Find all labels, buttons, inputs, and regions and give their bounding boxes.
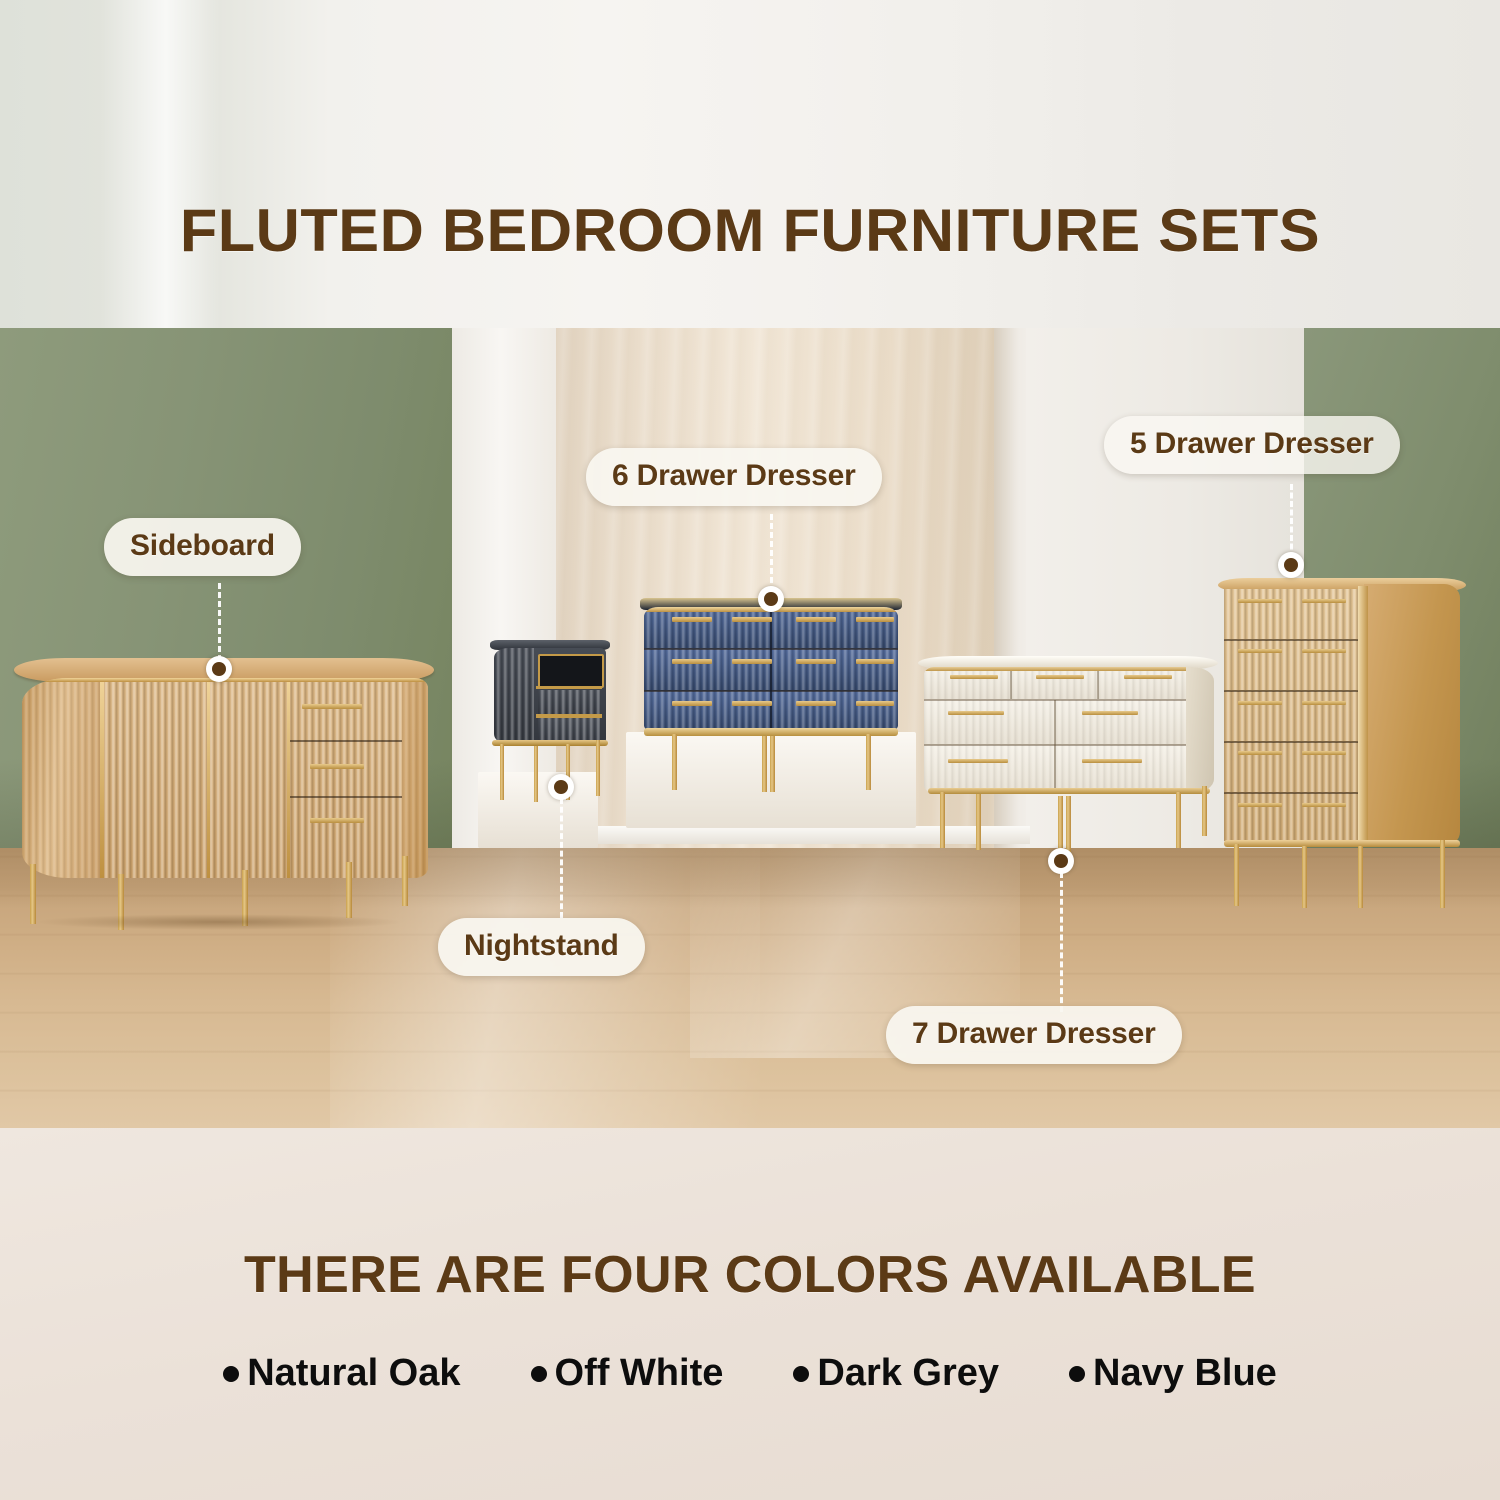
- bullet-icon: [793, 1366, 809, 1382]
- nightstand-drawer-2: [538, 718, 600, 742]
- dresser6-drawer-4: [771, 649, 898, 690]
- bullet-icon: [1069, 1366, 1085, 1382]
- color-option-natural-oak[interactable]: Natural Oak: [223, 1352, 460, 1395]
- callout-leader-6-drawer: [770, 514, 773, 592]
- nightstand-drawer-1: [538, 690, 600, 714]
- dresser7-drawer-6: [924, 745, 1054, 793]
- page-title: FLUTED BEDROOM FURNITURE SETS: [0, 196, 1500, 265]
- callout-dot-6-drawer: [758, 586, 784, 612]
- product-5-drawer-dresser: [1218, 578, 1466, 918]
- dresser6-drawer-1: [644, 607, 771, 648]
- callout-leader-5-drawer: [1290, 484, 1293, 558]
- dresser7-body: [924, 667, 1214, 793]
- header-band: [0, 0, 1500, 328]
- callout-dot-7-drawer: [1048, 848, 1074, 874]
- dresser7-drawer-4: [924, 700, 1054, 744]
- nightstand-body: [494, 648, 606, 744]
- dresser6-drawer-3: [644, 649, 771, 690]
- dresser7-base-rail: [928, 788, 1210, 794]
- dresser5-drawer-5: [1224, 793, 1364, 841]
- callout-label-5-drawer[interactable]: 5 Drawer Dresser: [1104, 416, 1400, 474]
- dresser6-body: [644, 607, 898, 731]
- dresser5-drawer-1: [1224, 589, 1364, 639]
- callout-label-nightstand[interactable]: Nightstand: [438, 918, 645, 976]
- callout-leader-sideboard: [218, 583, 221, 661]
- color-option-label: Dark Grey: [817, 1352, 999, 1395]
- callout-dot-5-drawer: [1278, 552, 1304, 578]
- sideboard-divider-2: [207, 678, 210, 878]
- dresser5-drawer-4: [1224, 742, 1364, 792]
- color-option-label: Navy Blue: [1093, 1352, 1277, 1395]
- bullet-icon: [531, 1366, 547, 1382]
- dresser7-drawer-1: [924, 667, 1010, 699]
- product-scene-photo: Sideboard 6 Drawer Dresser 5 Drawer Dres…: [0, 328, 1500, 1128]
- color-option-off-white[interactable]: Off White: [531, 1352, 724, 1395]
- dresser7-side-panel: [1186, 667, 1214, 793]
- colors-option-list: Natural Oak Off White Dark Grey Navy Blu…: [0, 1352, 1500, 1395]
- sideboard-handle-2: [310, 764, 364, 769]
- sideboard-shadow: [34, 914, 404, 930]
- callout-dot-sideboard: [206, 656, 232, 682]
- callout-label-sideboard[interactable]: Sideboard: [104, 518, 301, 576]
- nightstand-open-shelf: [538, 654, 604, 688]
- dresser7-drawer-3: [1098, 667, 1186, 699]
- color-option-navy-blue[interactable]: Navy Blue: [1069, 1352, 1277, 1395]
- infographic-page: FLUTED BEDROOM FURNITURE SETS: [0, 0, 1500, 1500]
- dresser7-drawer-7: [1055, 745, 1186, 793]
- dresser6-drawer-2: [771, 607, 898, 648]
- dresser7-drawer-2: [1011, 667, 1097, 699]
- color-option-dark-grey[interactable]: Dark Grey: [793, 1352, 999, 1395]
- nightstand-side-flutes: [494, 648, 534, 744]
- sideboard-right-cap: [402, 678, 428, 878]
- dresser5-front: [1224, 589, 1364, 841]
- color-option-label: Natural Oak: [247, 1352, 460, 1395]
- colors-section-title: THERE ARE FOUR COLORS AVAILABLE: [0, 1245, 1500, 1305]
- nightstand-base-rail: [492, 740, 608, 746]
- sideboard-divider-1: [100, 678, 104, 878]
- colors-section: [0, 1128, 1500, 1500]
- sideboard-left-door: [22, 678, 100, 878]
- bullet-icon: [223, 1366, 239, 1382]
- product-sideboard: [8, 658, 438, 908]
- dresser7-drawer-5: [1055, 700, 1186, 744]
- sideboard-divider-3: [287, 678, 290, 878]
- callout-label-6-drawer[interactable]: 6 Drawer Dresser: [586, 448, 882, 506]
- product-nightstand: [490, 640, 610, 800]
- callout-dot-nightstand: [548, 774, 574, 800]
- dresser6-base-rail: [644, 728, 898, 736]
- dresser5-drawer-2: [1224, 640, 1364, 690]
- sideboard-handle-3: [310, 818, 364, 823]
- dresser6-drawer-5: [644, 691, 771, 731]
- sideboard-drawer-gap-2: [290, 796, 402, 798]
- product-7-drawer-dresser: [918, 656, 1218, 856]
- callout-leader-nightstand: [560, 798, 563, 918]
- dresser5-corner-post: [1358, 586, 1368, 844]
- color-option-label: Off White: [555, 1352, 724, 1395]
- sideboard-drawer-gap-1: [290, 740, 402, 742]
- sideboard-body: [22, 678, 428, 878]
- dresser5-base-rail: [1224, 840, 1460, 847]
- callout-leader-7-drawer: [1060, 872, 1063, 1012]
- dresser5-side-panel: [1364, 584, 1460, 846]
- product-6-drawer-dresser: [640, 598, 902, 768]
- sideboard-handle-1: [302, 704, 362, 709]
- dresser6-drawer-6: [771, 691, 898, 731]
- dresser5-drawer-3: [1224, 691, 1364, 741]
- callout-label-7-drawer[interactable]: 7 Drawer Dresser: [886, 1006, 1182, 1064]
